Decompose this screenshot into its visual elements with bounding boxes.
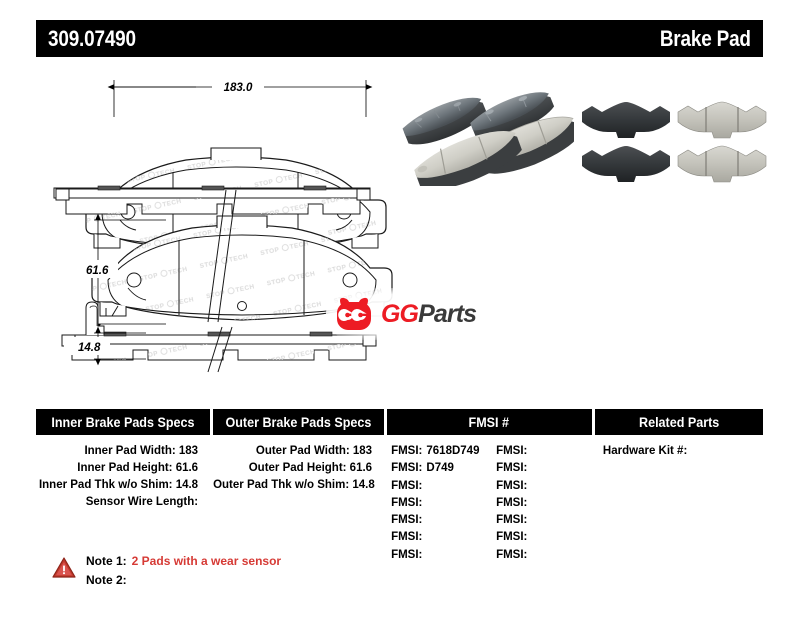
spec-line: Outer Pad Thk w/o Shim: 14.8 bbox=[213, 477, 372, 494]
ggparts-brand-primary: GG bbox=[381, 300, 418, 328]
spec-line: Inner Pad Width: 183 bbox=[36, 443, 198, 460]
fmsi-row: FMSI:7618D749 bbox=[391, 443, 496, 460]
fmsi-row: FMSI: bbox=[496, 460, 531, 477]
table-body: Inner Pad Width: 183 Inner Pad Height: 6… bbox=[36, 435, 763, 564]
fmsi-row: FMSI: bbox=[496, 443, 531, 460]
related-part-line: Hardware Kit #: bbox=[603, 443, 763, 460]
brake-pad-photo-flat bbox=[574, 90, 770, 186]
fmsi-row: FMSI: bbox=[496, 512, 531, 529]
table-header-outer-specs: Outer Brake Pads Specs bbox=[213, 409, 383, 435]
spec-line: Sensor Wire Length: bbox=[36, 494, 198, 511]
ggparts-brand-secondary: Parts bbox=[418, 300, 476, 328]
fmsi-row: FMSI: bbox=[496, 478, 531, 495]
fmsi-row: FMSI: bbox=[391, 529, 496, 546]
ggparts-watermark: GGParts bbox=[326, 288, 516, 340]
specification-table: Inner Brake Pads Specs Outer Brake Pads … bbox=[36, 409, 763, 564]
ggparts-wordmark: GGParts bbox=[381, 300, 476, 329]
brake-pad-photo-angled bbox=[388, 90, 584, 186]
fmsi-column-left: FMSI:7618D749 FMSI:D749 FMSI: FMSI: FMSI… bbox=[391, 443, 496, 564]
warning-triangle-icon bbox=[52, 557, 76, 578]
fmsi-row: FMSI: bbox=[496, 547, 531, 564]
fmsi-row: FMSI: bbox=[496, 529, 531, 546]
fmsi-cell: FMSI:7618D749 FMSI:D749 FMSI: FMSI: FMSI… bbox=[387, 443, 592, 564]
svg-text:14.8: 14.8 bbox=[78, 342, 101, 354]
fmsi-row: FMSI: bbox=[391, 547, 496, 564]
fmsi-row: FMSI: bbox=[391, 478, 496, 495]
svg-text:61.6: 61.6 bbox=[86, 265, 109, 277]
product-title-bar: 309.07490 Brake Pad bbox=[36, 20, 763, 57]
inner-specs-cell: Inner Pad Width: 183 Inner Pad Height: 6… bbox=[36, 443, 210, 564]
note-line-1: Note 1:2 Pads with a wear sensor bbox=[86, 552, 281, 571]
notes-text: Note 1:2 Pads with a wear sensor Note 2: bbox=[86, 552, 281, 590]
table-header-fmsi: FMSI # bbox=[387, 409, 592, 435]
product-type-label: Brake Pad bbox=[660, 26, 751, 52]
spec-line: Inner Pad Height: 61.6 bbox=[36, 460, 198, 477]
table-header-inner-specs: Inner Brake Pads Specs bbox=[36, 409, 210, 435]
note-1-value: 2 Pads with a wear sensor bbox=[132, 554, 281, 568]
fmsi-row: FMSI:D749 bbox=[391, 460, 496, 477]
outer-specs-cell: Outer Pad Width: 183 Outer Pad Height: 6… bbox=[213, 443, 384, 564]
fmsi-row: FMSI: bbox=[496, 495, 531, 512]
spec-line: Inner Pad Thk w/o Shim: 14.8 bbox=[36, 477, 198, 494]
note-1-label: Note 1: bbox=[86, 554, 127, 568]
note-line-2: Note 2: bbox=[86, 571, 281, 590]
table-header-row: Inner Brake Pads Specs Outer Brake Pads … bbox=[36, 409, 763, 435]
related-parts-cell: Hardware Kit #: bbox=[595, 443, 763, 564]
notes-section: Note 1:2 Pads with a wear sensor Note 2: bbox=[52, 552, 281, 590]
spec-line: Outer Pad Width: 183 bbox=[213, 443, 372, 460]
table-header-related-parts: Related Parts bbox=[595, 409, 763, 435]
fmsi-row: FMSI: bbox=[391, 495, 496, 512]
spec-line: Outer Pad Height: 61.6 bbox=[213, 460, 372, 477]
ggparts-mascot-icon bbox=[334, 294, 374, 334]
part-number: 309.07490 bbox=[48, 26, 136, 52]
svg-text:183.0: 183.0 bbox=[224, 82, 253, 94]
fmsi-column-right: FMSI: FMSI: FMSI: FMSI: FMSI: FMSI: FMSI… bbox=[496, 443, 531, 564]
fmsi-row: FMSI: bbox=[391, 512, 496, 529]
note-2-label: Note 2: bbox=[86, 573, 127, 587]
technical-drawing-area: STOP TECH 183.0 bbox=[36, 62, 763, 392]
